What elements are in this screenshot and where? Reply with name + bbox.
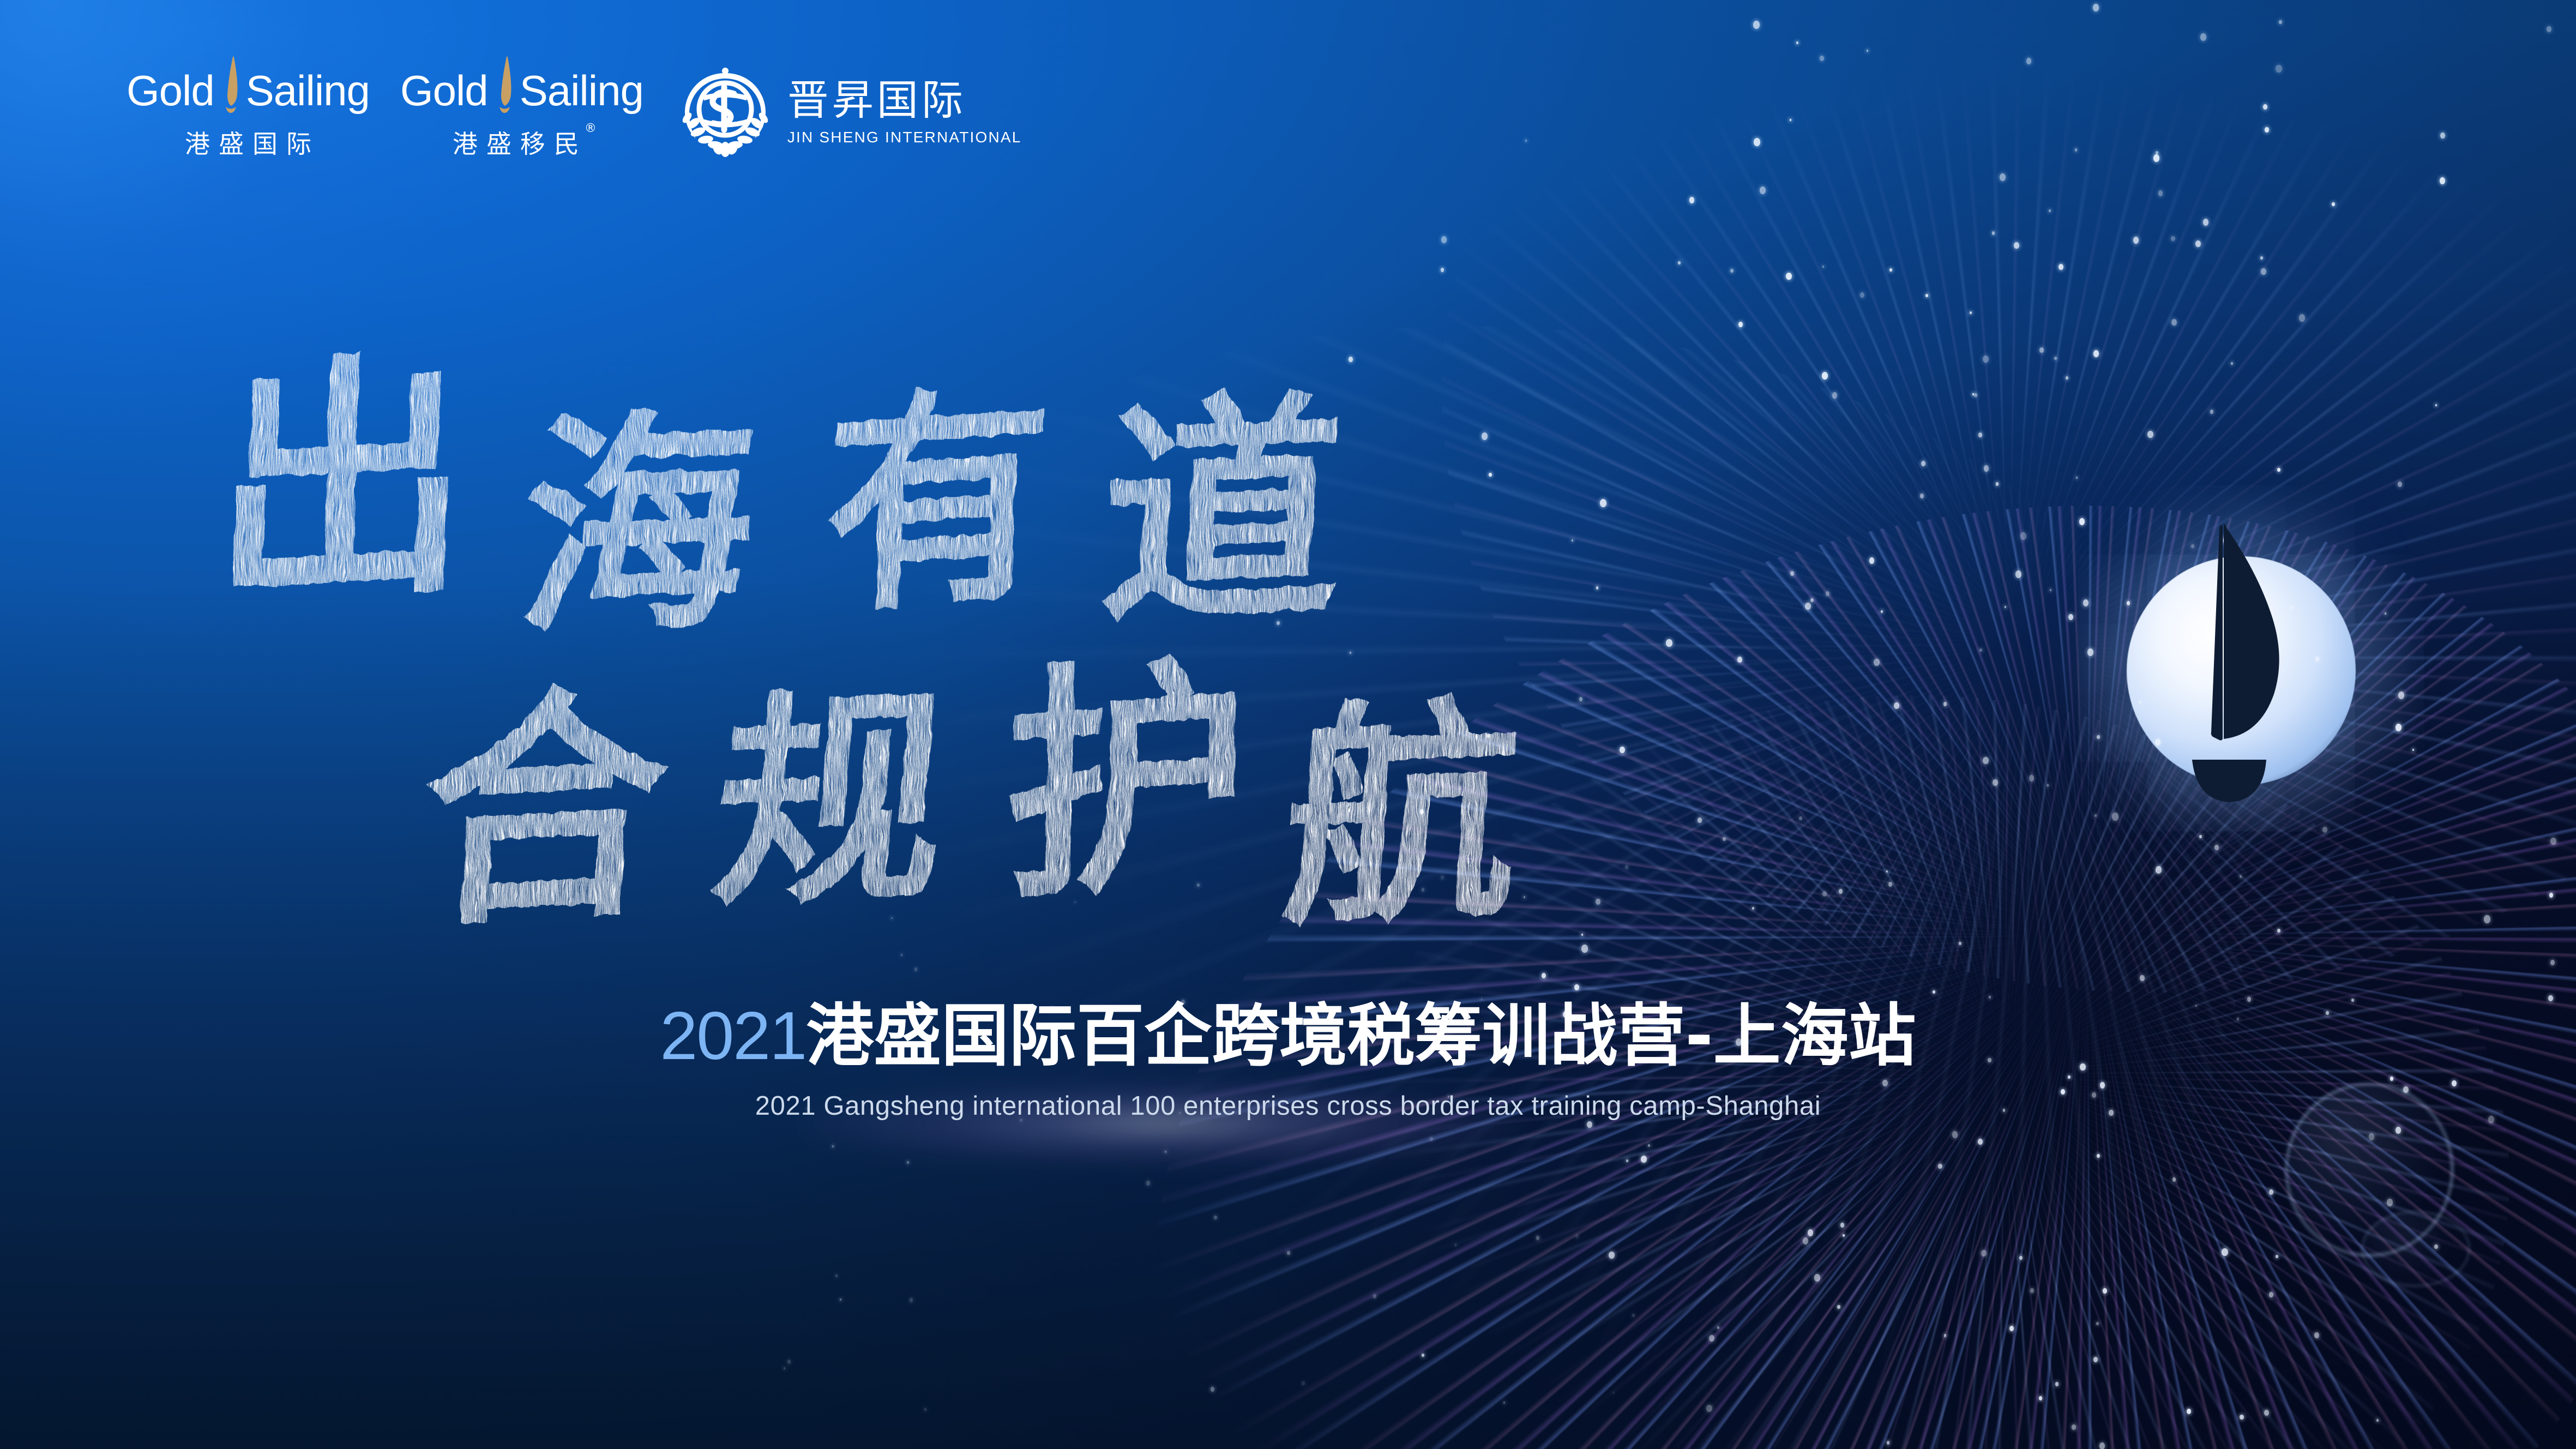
poster-canvas: Gold Sailing 港盛国际 Gold (0, 0, 2576, 1449)
sailboat-silhouette-icon (2131, 521, 2311, 826)
headline-line-1: 出 海 有 道 (208, 328, 1349, 668)
subtitle-chinese: 2021港盛国际百企跨境税筹训战营-上海站 (0, 1002, 2576, 1070)
logo-word-sailing: Sailing (246, 69, 370, 112)
laurel-wreath-s-emblem-icon (677, 64, 773, 160)
logo-bar: Gold Sailing 港盛国际 Gold (127, 64, 1022, 160)
svg-text:护: 护 (1002, 631, 1251, 934)
logo-gold-sailing-guoji[interactable]: Gold Sailing 港盛国际 (127, 64, 370, 160)
subtitle-chinese-text: 港盛国际百企跨境税筹训战营-上海站 (806, 997, 1916, 1075)
subtitle-english: 2021 Gangsheng international 100 enterpr… (0, 1091, 2576, 1121)
headline-line-2: 合 规 护 航 (414, 631, 1528, 961)
svg-text:规: 规 (704, 665, 956, 941)
logo-chinese-name: 港盛国际 (176, 124, 320, 160)
headline-calligraphy: 出 海 有 道 合 规 护 航 (0, 305, 1745, 993)
logo-word-gold: Gold (127, 69, 214, 112)
jin-sheng-chinese: 晋昇国际 (787, 79, 1022, 122)
registered-trademark-icon: ® (585, 122, 597, 135)
logo-gold-sailing-yimin[interactable]: Gold Sailing 港盛移民® (400, 64, 643, 160)
gold-sail-icon (216, 56, 245, 115)
jin-sheng-english: JIN SHENG INTERNATIONAL (787, 129, 1022, 146)
logo-jin-sheng-international[interactable]: 晋昇国际 JIN SHENG INTERNATIONAL (677, 64, 1022, 160)
svg-text:有: 有 (819, 362, 1057, 646)
svg-text:出: 出 (208, 328, 475, 640)
subtitle-year: 2021 (660, 999, 806, 1074)
logo-chinese-name-2: 港盛移民® (444, 124, 600, 160)
logo-word-sailing-2: Sailing (520, 69, 643, 112)
svg-text:道: 道 (1094, 369, 1349, 658)
logo-chinese-text-2: 港盛移民 (453, 129, 588, 159)
gold-sail-icon-2 (490, 56, 519, 115)
logo-word-gold-2: Gold (400, 69, 488, 112)
svg-text:合: 合 (414, 662, 675, 961)
svg-text:海: 海 (508, 385, 767, 668)
svg-text:航: 航 (1275, 676, 1528, 958)
